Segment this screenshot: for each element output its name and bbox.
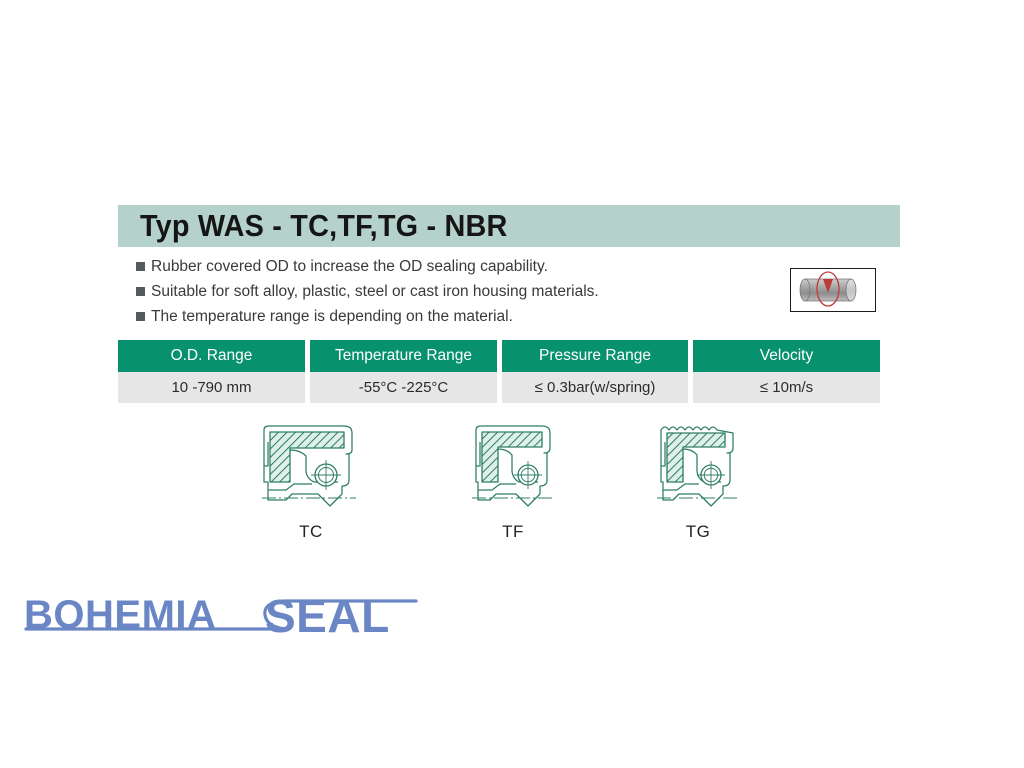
seal-diagram-gallery: TC TF	[118, 420, 875, 550]
seal-label-tc: TC	[236, 522, 386, 542]
cell-temperature-range: -55°C -225°C	[310, 371, 497, 403]
feature-text: Rubber covered OD to increase the OD sea…	[151, 256, 548, 277]
logo-text-seal: SEAL	[265, 590, 390, 642]
cell-velocity: ≤ 10m/s	[693, 371, 880, 403]
cell-pressure-range: ≤ 0.3bar(w/spring)	[502, 371, 688, 403]
title-banner: Typ WAS - TC,TF,TG - NBR	[118, 205, 900, 247]
seal-diagram-tf: TF	[438, 420, 588, 542]
seal-diagram-tg: TG	[623, 420, 773, 542]
cell-od-range: 10 -790 mm	[118, 371, 305, 403]
feature-text: Suitable for soft alloy, plastic, steel …	[151, 281, 599, 302]
column-header-pressure-range: Pressure Range	[502, 340, 688, 371]
feature-text: The temperature range is depending on th…	[151, 306, 513, 327]
feature-list: Rubber covered OD to increase the OD sea…	[136, 256, 736, 331]
table-row: 10 -790 mm -55°C -225°C ≤ 0.3bar(w/sprin…	[118, 371, 875, 403]
spec-table: O.D. Range Temperature Range Pressure Ra…	[118, 340, 875, 403]
bullet-square-icon	[136, 287, 145, 296]
list-item: Suitable for soft alloy, plastic, steel …	[136, 281, 736, 303]
seal-diagram-tc: TC	[236, 420, 386, 542]
seal-label-tf: TF	[438, 522, 588, 542]
seal-cross-section-tc	[256, 420, 366, 520]
table-header-row: O.D. Range Temperature Range Pressure Ra…	[118, 340, 875, 371]
seal-label-tg: TG	[623, 522, 773, 542]
seal-cross-section-tg	[643, 420, 753, 520]
list-item: Rubber covered OD to increase the OD sea…	[136, 256, 736, 278]
seal-cross-section-tf	[458, 420, 568, 520]
column-header-velocity: Velocity	[693, 340, 880, 371]
bullet-square-icon	[136, 312, 145, 321]
rotating-shaft-icon	[790, 268, 876, 312]
page-title: Typ WAS - TC,TF,TG - NBR	[140, 208, 507, 244]
bullet-square-icon	[136, 262, 145, 271]
column-header-temperature-range: Temperature Range	[310, 340, 497, 371]
company-logo: BOHEMIA SEAL	[20, 588, 420, 648]
column-header-od-range: O.D. Range	[118, 340, 305, 371]
list-item: The temperature range is depending on th…	[136, 306, 736, 328]
